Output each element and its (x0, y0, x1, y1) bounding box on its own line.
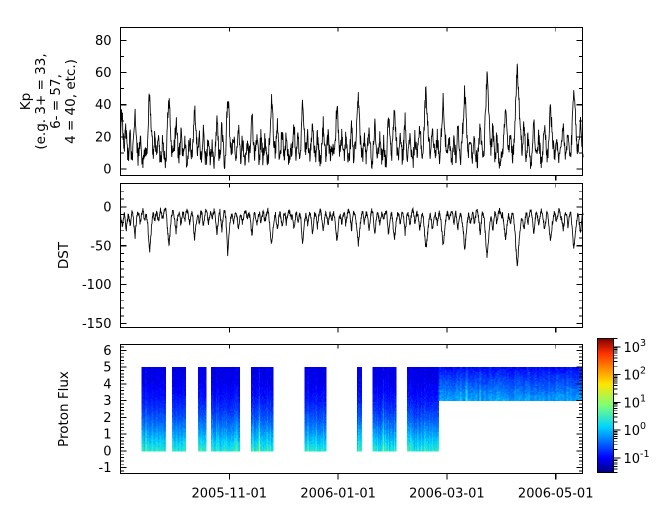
kp-axis-title-line: 6- = 57, (48, 74, 64, 129)
dst-ytick-label: 0 (103, 200, 111, 215)
kp-axis-title-line: (e.g. 3+ = 33, (33, 53, 49, 149)
kp-ytick-label: 80 (95, 34, 112, 49)
dst-ytick-label: -50 (90, 239, 111, 254)
space-weather-figure: 020406080Kp(e.g. 3+ = 33,6- = 57,4 = 40,… (0, 0, 665, 523)
dst-ytick-label: -150 (82, 317, 112, 332)
kp-ytick-label: 20 (95, 130, 112, 145)
dst-axis-title: DST (56, 241, 72, 269)
flux-cell (205, 367, 206, 369)
dst-series (121, 208, 584, 266)
kp-axis-title-line: Kp (18, 93, 34, 110)
kp-ytick-label: 60 (95, 66, 112, 81)
proton-flux-panel: -101234562005-11-012006-01-012006-03-012… (56, 344, 593, 502)
kp-series (121, 64, 584, 169)
kp-ytick-label: 0 (103, 163, 111, 178)
kp-axis-title-line: 4 = 40, etc.) (63, 59, 79, 144)
plot-canvas: 020406080Kp(e.g. 3+ = 33,6- = 57,4 = 40,… (0, 0, 665, 523)
flux-cell (165, 367, 166, 369)
dst-panel: 0-50-100-150DST (56, 184, 583, 333)
dst-frame (121, 184, 583, 328)
kp-ytick-label: 40 (95, 98, 112, 113)
flux-cell (239, 367, 240, 369)
kp-panel: 020406080Kp(e.g. 3+ = 33,6- = 57,4 = 40,… (18, 28, 583, 181)
flux-cell (185, 367, 186, 369)
dst-ytick-label: -100 (82, 278, 112, 293)
